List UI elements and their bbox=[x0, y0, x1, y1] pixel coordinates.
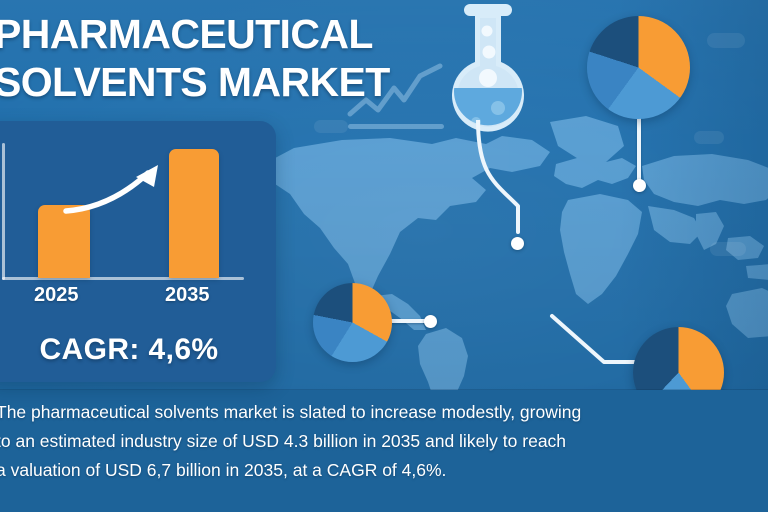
decor-pill bbox=[314, 120, 348, 133]
decor-pill bbox=[707, 33, 745, 48]
bar-label-2035: 2035 bbox=[165, 284, 210, 307]
page-title: PHARMACEUTICAL SOLVENTS MARKET bbox=[0, 10, 464, 106]
body-line-2: to an estimated industry size of USD 4.3… bbox=[0, 427, 666, 456]
map-marker-dot bbox=[511, 237, 524, 250]
growth-arrow-icon bbox=[62, 161, 172, 219]
cagr-label: CAGR: 4,6% bbox=[0, 333, 266, 367]
decor-pill bbox=[694, 131, 724, 144]
stat-panel: 2025 2035 CAGR: 4,6% bbox=[0, 121, 276, 382]
body-line-3: a valuation of USD 6,7 billion in 2035, … bbox=[0, 456, 666, 485]
title-line-1: PHARMACEUTICAL bbox=[0, 11, 373, 57]
connector-pie-top-right bbox=[637, 116, 641, 184]
body-paragraph: The pharmaceutical solvents market is sl… bbox=[0, 398, 666, 485]
connector-flask-to-map bbox=[460, 120, 580, 250]
bar-label-2025: 2025 bbox=[34, 284, 79, 307]
body-line-1: The pharmaceutical solvents market is sl… bbox=[0, 398, 666, 427]
y-axis bbox=[2, 143, 5, 280]
pie-chart-middle-left bbox=[313, 283, 392, 362]
map-marker-dot bbox=[633, 179, 646, 192]
bar-2035 bbox=[169, 149, 219, 278]
title-line-2: SOLVENTS MARKET bbox=[0, 58, 464, 106]
infographic-root: PHARMACEUTICAL SOLVENTS MARKET 2025 2035… bbox=[0, 0, 768, 512]
decor-pill bbox=[710, 242, 746, 256]
bar-chart: 2025 2035 CAGR: 4,6% bbox=[0, 121, 276, 382]
map-marker-dot bbox=[424, 315, 437, 328]
pie-chart-top-right bbox=[587, 16, 690, 119]
